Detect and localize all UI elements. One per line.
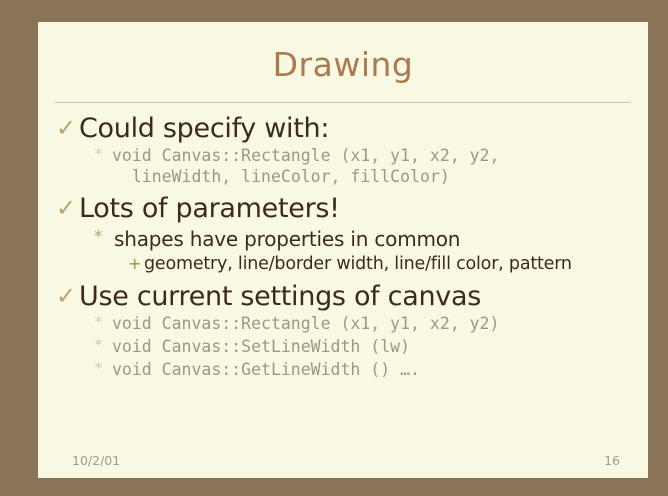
code-line: * void Canvas::GetLineWidth () ….: [94, 359, 634, 380]
asterisk-icon: *: [94, 359, 112, 379]
bullet-level2-label: shapes have properties in common: [114, 227, 460, 251]
plus-icon: +: [128, 254, 144, 273]
content-block: ✓ Could specify with: * void Canvas::Rec…: [56, 114, 634, 187]
slide-footer: 10/2/01 16: [38, 453, 648, 468]
bullet-item-level1: ✓ Lots of parameters!: [56, 194, 634, 223]
bullet-item-level1: ✓ Could specify with:: [56, 114, 634, 143]
page-title: Drawing: [38, 22, 648, 81]
asterisk-icon: *: [94, 336, 112, 356]
bullet-level1-label: Use current settings of canvas: [79, 282, 634, 311]
code-line: * void Canvas::Rectangle (x1, y1, x2, y2…: [94, 313, 634, 334]
code-line-text: void Canvas::GetLineWidth () ….: [112, 359, 634, 380]
bullet-item-level2: * shapes have properties in common: [94, 227, 634, 251]
asterisk-icon: *: [94, 145, 112, 165]
asterisk-icon: *: [94, 313, 112, 333]
bullet-level1-label: Lots of parameters!: [79, 194, 634, 223]
code-line-text: void Canvas::Rectangle (x1, y1, x2, y2): [112, 313, 634, 334]
slide-body: ✓ Could specify with: * void Canvas::Rec…: [38, 103, 648, 380]
code-line: * void Canvas::SetLineWidth (lw): [94, 336, 634, 357]
code-line-text: void Canvas::SetLineWidth (lw): [112, 336, 634, 357]
code-line: * void Canvas::Rectangle (x1, y1, x2, y2…: [94, 145, 634, 187]
checkmark-icon: ✓: [56, 114, 79, 143]
checkmark-icon: ✓: [56, 282, 79, 311]
slide-frame: Drawing ✓ Could specify with: * void Can…: [38, 22, 648, 478]
slide-number: 16: [604, 453, 620, 468]
code-line-text: void Canvas::Rectangle (x1, y1, x2, y2, …: [112, 145, 634, 187]
asterisk-icon: *: [94, 227, 114, 247]
bullet-item-level1: ✓ Use current settings of canvas: [56, 282, 634, 311]
content-block: ✓ Use current settings of canvas * void …: [56, 282, 634, 380]
bullet-level1-label: Could specify with:: [79, 114, 634, 143]
bullet-level3-label: geometry, line/border width, line/fill c…: [144, 254, 572, 275]
checkmark-icon: ✓: [56, 194, 79, 223]
bullet-item-level3: + geometry, line/border width, line/fill…: [128, 254, 634, 275]
footer-date: 10/2/01: [72, 453, 120, 468]
content-block: ✓ Lots of parameters! * shapes have prop…: [56, 194, 634, 274]
